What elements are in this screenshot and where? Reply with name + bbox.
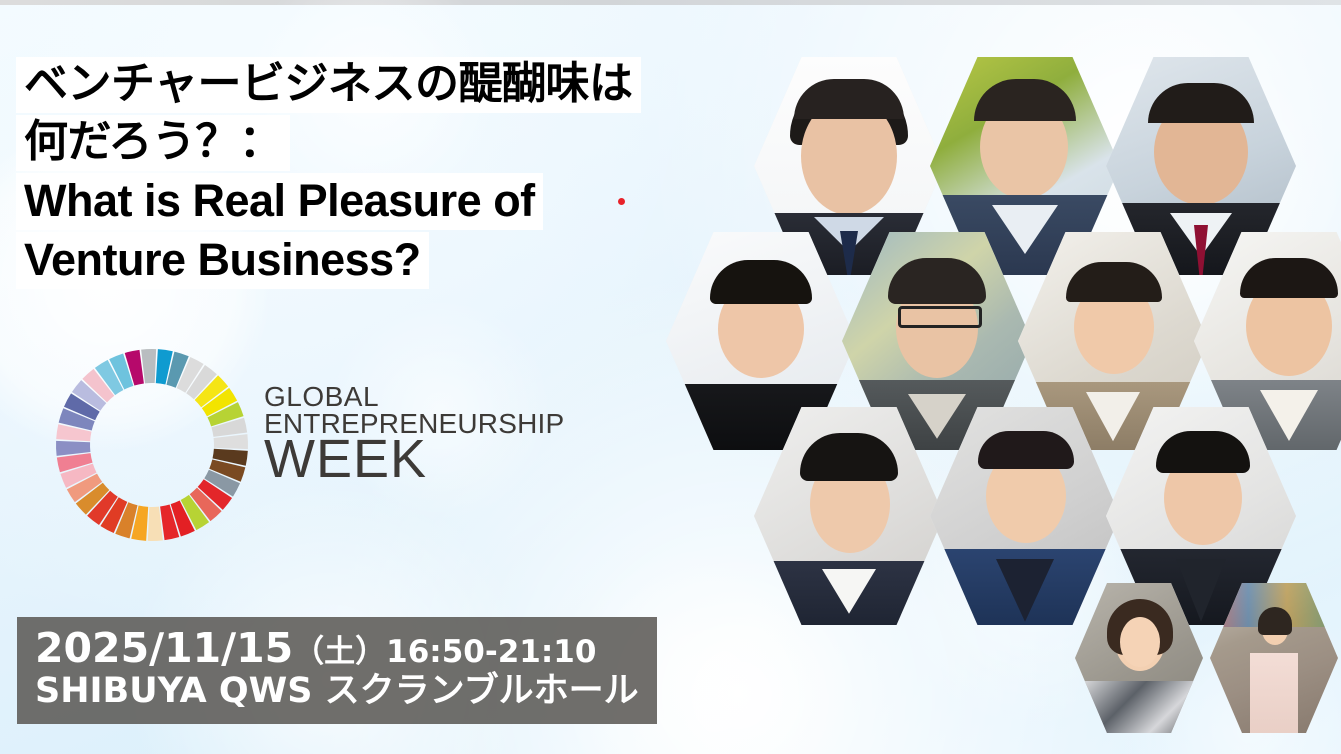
title-line-jp-1: ベンチャービジネスの醍醐味は [16,57,641,113]
event-datetime-line: 2025/11/15（土）16:50-21:10 [35,626,639,672]
gew-word-week: WEEK [264,435,594,485]
event-date: 2025/11/15 [35,624,293,672]
event-date-venue-bar: 2025/11/15（土）16:50-21:10 SHIBUYA QWS スクラ… [17,617,657,724]
title-line-jp-2: 何だろう？： [16,115,290,171]
page-title: ベンチャービジネスの醍醐味は 何だろう？： What is Real Pleas… [16,57,756,291]
event-time: 16:50-21:10 [386,634,596,670]
title-line-en-1: What is Real Pleasure of [16,173,543,230]
gew-ring-icon [52,345,252,545]
event-poster: ベンチャービジネスの醍醐味は 何だろう？： What is Real Pleas… [0,0,1341,754]
gew-wordmark: GLOBAL ENTREPRENEURSHIP WEEK [264,383,594,485]
gew-word-global: GLOBAL [264,383,594,410]
gew-ring-segment [56,441,90,456]
event-weekday: （土） [293,634,386,670]
red-dot-artifact [618,198,625,205]
top-strip [0,0,1341,5]
gew-logo: GLOBAL ENTREPRENEURSHIP WEEK [52,345,592,545]
event-venue: SHIBUYA QWS スクランブルホール [35,672,639,712]
title-line-en-2: Venture Business? [16,232,429,289]
gew-ring-segment [148,507,163,541]
gew-ring-segment [141,349,156,383]
gew-ring-segment [214,434,248,449]
